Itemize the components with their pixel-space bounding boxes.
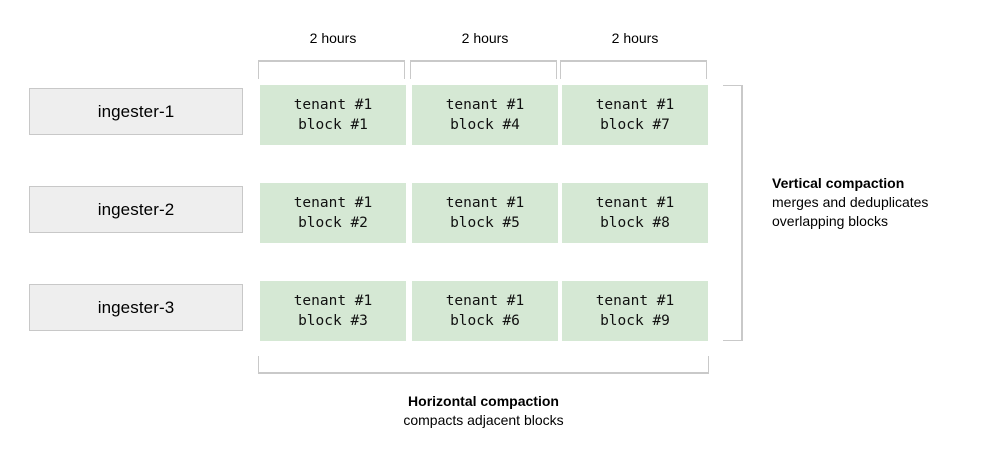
tsdb-block[interactable]: tenant #1 block #2 [260,183,406,243]
block-id-label: block #3 [298,311,368,331]
block-id-label: block #5 [450,213,520,233]
ingester-label-3: ingester-3 [98,298,175,318]
tsdb-block[interactable]: tenant #1 block #1 [260,85,406,145]
block-id-label: block #9 [600,311,670,331]
block-id-label: block #6 [450,311,520,331]
block-tenant-label: tenant #1 [446,95,525,115]
block-tenant-label: tenant #1 [294,193,373,213]
block-id-label: block #8 [600,213,670,233]
tsdb-block[interactable]: tenant #1 block #6 [412,281,558,341]
ingester-label-1: ingester-1 [98,102,175,122]
compaction-diagram: 2 hours 2 hours 2 hours ingester-1 inges… [0,0,1002,453]
block-tenant-label: tenant #1 [596,291,675,311]
block-tenant-label: tenant #1 [294,291,373,311]
tsdb-block[interactable]: tenant #1 block #8 [562,183,708,243]
block-id-label: block #2 [298,213,368,233]
time-range-bracket-3 [560,60,707,79]
block-id-label: block #4 [450,115,520,135]
block-tenant-label: tenant #1 [294,95,373,115]
time-column-label-1: 2 hours [260,30,406,46]
block-tenant-label: tenant #1 [446,193,525,213]
tsdb-block[interactable]: tenant #1 block #7 [562,85,708,145]
ingester-label-2: ingester-2 [98,200,175,220]
horizontal-compaction-title: Horizontal compaction [258,392,709,411]
tsdb-block[interactable]: tenant #1 block #9 [562,281,708,341]
horizontal-compaction-line-1: compacts adjacent blocks [258,411,709,430]
time-range-bracket-1 [258,60,405,79]
vertical-compaction-annotation: Vertical compaction merges and deduplica… [772,174,987,231]
horizontal-compaction-bracket [258,356,709,374]
ingester-box-1[interactable]: ingester-1 [29,88,243,135]
tsdb-block[interactable]: tenant #1 block #5 [412,183,558,243]
block-tenant-label: tenant #1 [596,95,675,115]
ingester-box-3[interactable]: ingester-3 [29,284,243,331]
vertical-compaction-bracket [723,85,743,341]
time-column-label-2: 2 hours [412,30,558,46]
block-id-label: block #7 [600,115,670,135]
vertical-compaction-line-1: merges and deduplicates [772,193,987,212]
tsdb-block[interactable]: tenant #1 block #4 [412,85,558,145]
block-tenant-label: tenant #1 [596,193,675,213]
vertical-compaction-title: Vertical compaction [772,174,987,193]
time-column-label-3: 2 hours [562,30,708,46]
horizontal-compaction-annotation: Horizontal compaction compacts adjacent … [258,392,709,430]
vertical-compaction-line-2: overlapping blocks [772,212,987,231]
tsdb-block[interactable]: tenant #1 block #3 [260,281,406,341]
block-tenant-label: tenant #1 [446,291,525,311]
block-id-label: block #1 [298,115,368,135]
ingester-box-2[interactable]: ingester-2 [29,186,243,233]
time-range-bracket-2 [410,60,557,79]
